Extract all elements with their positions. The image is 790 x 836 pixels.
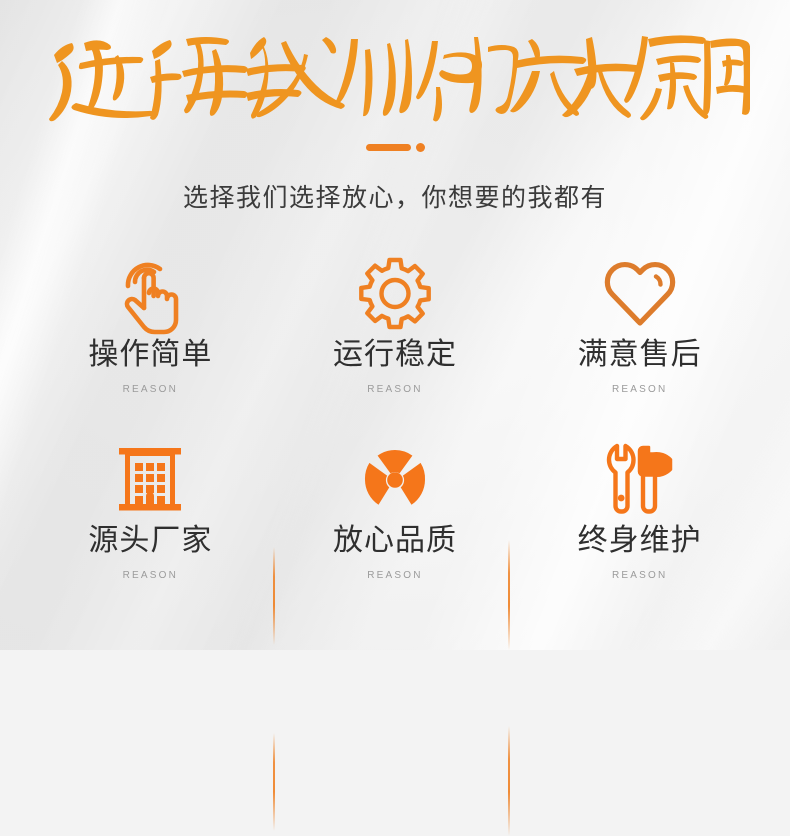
- divider-bar-icon: [366, 144, 411, 151]
- reason-item-stable-operation[interactable]: 运行稳定 REASON: [273, 250, 518, 436]
- column-separator: [508, 540, 510, 650]
- reasons-grid: 操作简单 REASON 运行稳定 REASON 满意售后 R: [0, 250, 790, 622]
- reason-label: 源头厂家: [88, 526, 212, 556]
- page-title-calligraphy: 选择我们的六大原因: [40, 25, 750, 131]
- reason-item-after-sales[interactable]: 满意售后 REASON: [517, 250, 762, 436]
- reason-item-source-factory[interactable]: 源头厂家 REASON: [28, 436, 273, 622]
- reason-item-easy-operation[interactable]: 操作简单 REASON: [28, 250, 273, 436]
- wrench-hammer-icon: [517, 436, 762, 524]
- reason-item-quality-assurance[interactable]: 放心品质 REASON: [273, 436, 518, 622]
- factory-building-icon: [28, 436, 273, 524]
- radiation-icon: [273, 436, 518, 524]
- title-divider: [0, 136, 790, 158]
- reason-label: 满意售后: [578, 340, 702, 370]
- reason-sublabel: REASON: [123, 570, 178, 581]
- reason-sublabel: REASON: [612, 384, 667, 395]
- column-separator: [508, 726, 510, 836]
- page-title: 选择我们的六大原因: [0, 22, 790, 134]
- gear-icon: [273, 250, 518, 338]
- reason-label: 运行稳定: [333, 340, 457, 370]
- reason-label: 操作简单: [88, 340, 212, 370]
- heart-icon: [517, 250, 762, 338]
- reason-sublabel: REASON: [367, 570, 422, 581]
- page-header: 选择我们的六大原因: [0, 0, 790, 214]
- column-separator: [273, 547, 275, 645]
- touch-hand-icon: [28, 250, 273, 338]
- column-separator: [273, 733, 275, 831]
- divider-dot-icon: [416, 143, 425, 152]
- page-subtitle: 选择我们选择放心，你想要的我都有: [0, 178, 790, 214]
- reason-sublabel: REASON: [367, 384, 422, 395]
- reason-label: 终身维护: [578, 526, 702, 556]
- reason-sublabel: REASON: [123, 384, 178, 395]
- promo-page: 选择我们的六大原因: [0, 0, 790, 650]
- reason-sublabel: REASON: [612, 570, 667, 581]
- reason-item-lifetime-service[interactable]: 终身维护 REASON: [517, 436, 762, 622]
- reason-label: 放心品质: [333, 526, 457, 556]
